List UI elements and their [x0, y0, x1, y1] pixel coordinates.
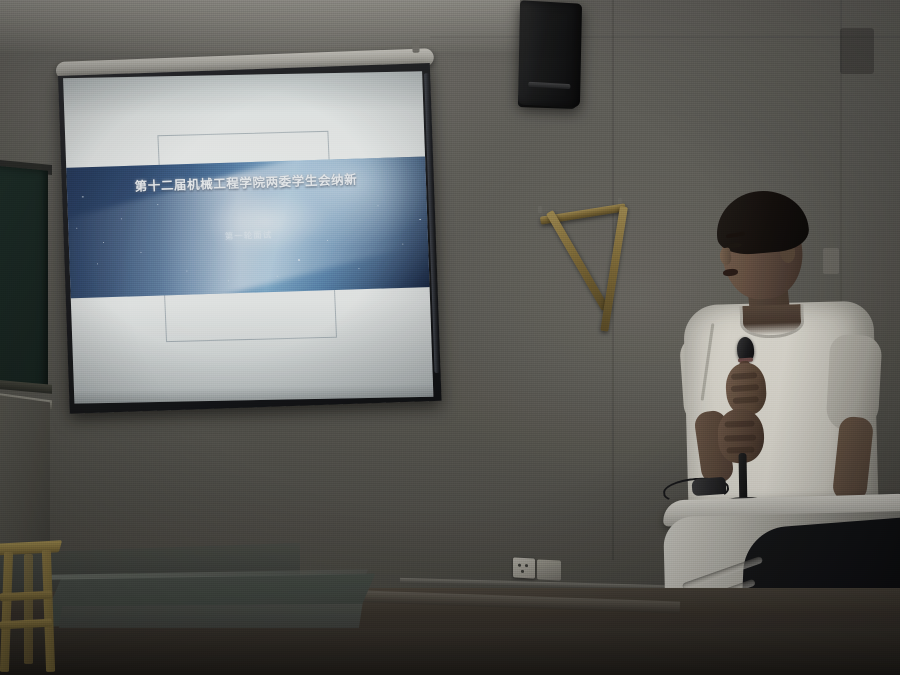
finger: [724, 421, 754, 428]
outlet-hole: [525, 564, 528, 567]
power-outlet[interactable]: [513, 557, 535, 578]
roller-bracket-right: [412, 40, 419, 53]
slide-core-glow: [201, 189, 331, 255]
stool-leg: [24, 554, 33, 664]
slide-star: [358, 268, 359, 269]
outlet-hole: [518, 564, 521, 567]
lectern-item[interactable]: [691, 477, 726, 496]
finger: [724, 434, 756, 441]
finger: [731, 372, 757, 380]
outlet-hole: [521, 570, 524, 573]
stool-leg: [0, 552, 13, 672]
wall-speaker: [518, 0, 582, 107]
outlet-cover-plate[interactable]: [537, 559, 561, 580]
stool-leg: [42, 550, 55, 672]
wooden-stool[interactable]: [0, 542, 64, 672]
finger: [733, 396, 759, 404]
classroom-photo-scene: 第十二届机械工程学院两委学生会纳新 第一轮面试: [0, 0, 900, 675]
teacher-desk: [0, 394, 50, 553]
set-square-edge-left: [546, 210, 609, 311]
finger: [731, 384, 759, 392]
speaker-grille: [528, 82, 570, 89]
floor-foreground: [0, 628, 900, 675]
presentation-slide: 第十二届机械工程学院两委学生会纳新 第一轮面试: [63, 157, 433, 299]
projection-screen-surface: 第十二届机械工程学院两委学生会纳新 第一轮面试: [63, 71, 433, 403]
wooden-set-square: [532, 196, 662, 341]
wall-hook-icon: [538, 206, 542, 213]
blackboard: [0, 165, 48, 393]
projection-screen-frame[interactable]: 第十二届机械工程学院两委学生会纳新 第一轮面试: [58, 63, 442, 414]
wall-seam: [430, 36, 900, 38]
wall-patch: [840, 28, 874, 74]
ceiling-light-band: [0, 0, 520, 52]
set-square-edge-right: [600, 206, 628, 332]
speaker-person: [660, 185, 900, 515]
